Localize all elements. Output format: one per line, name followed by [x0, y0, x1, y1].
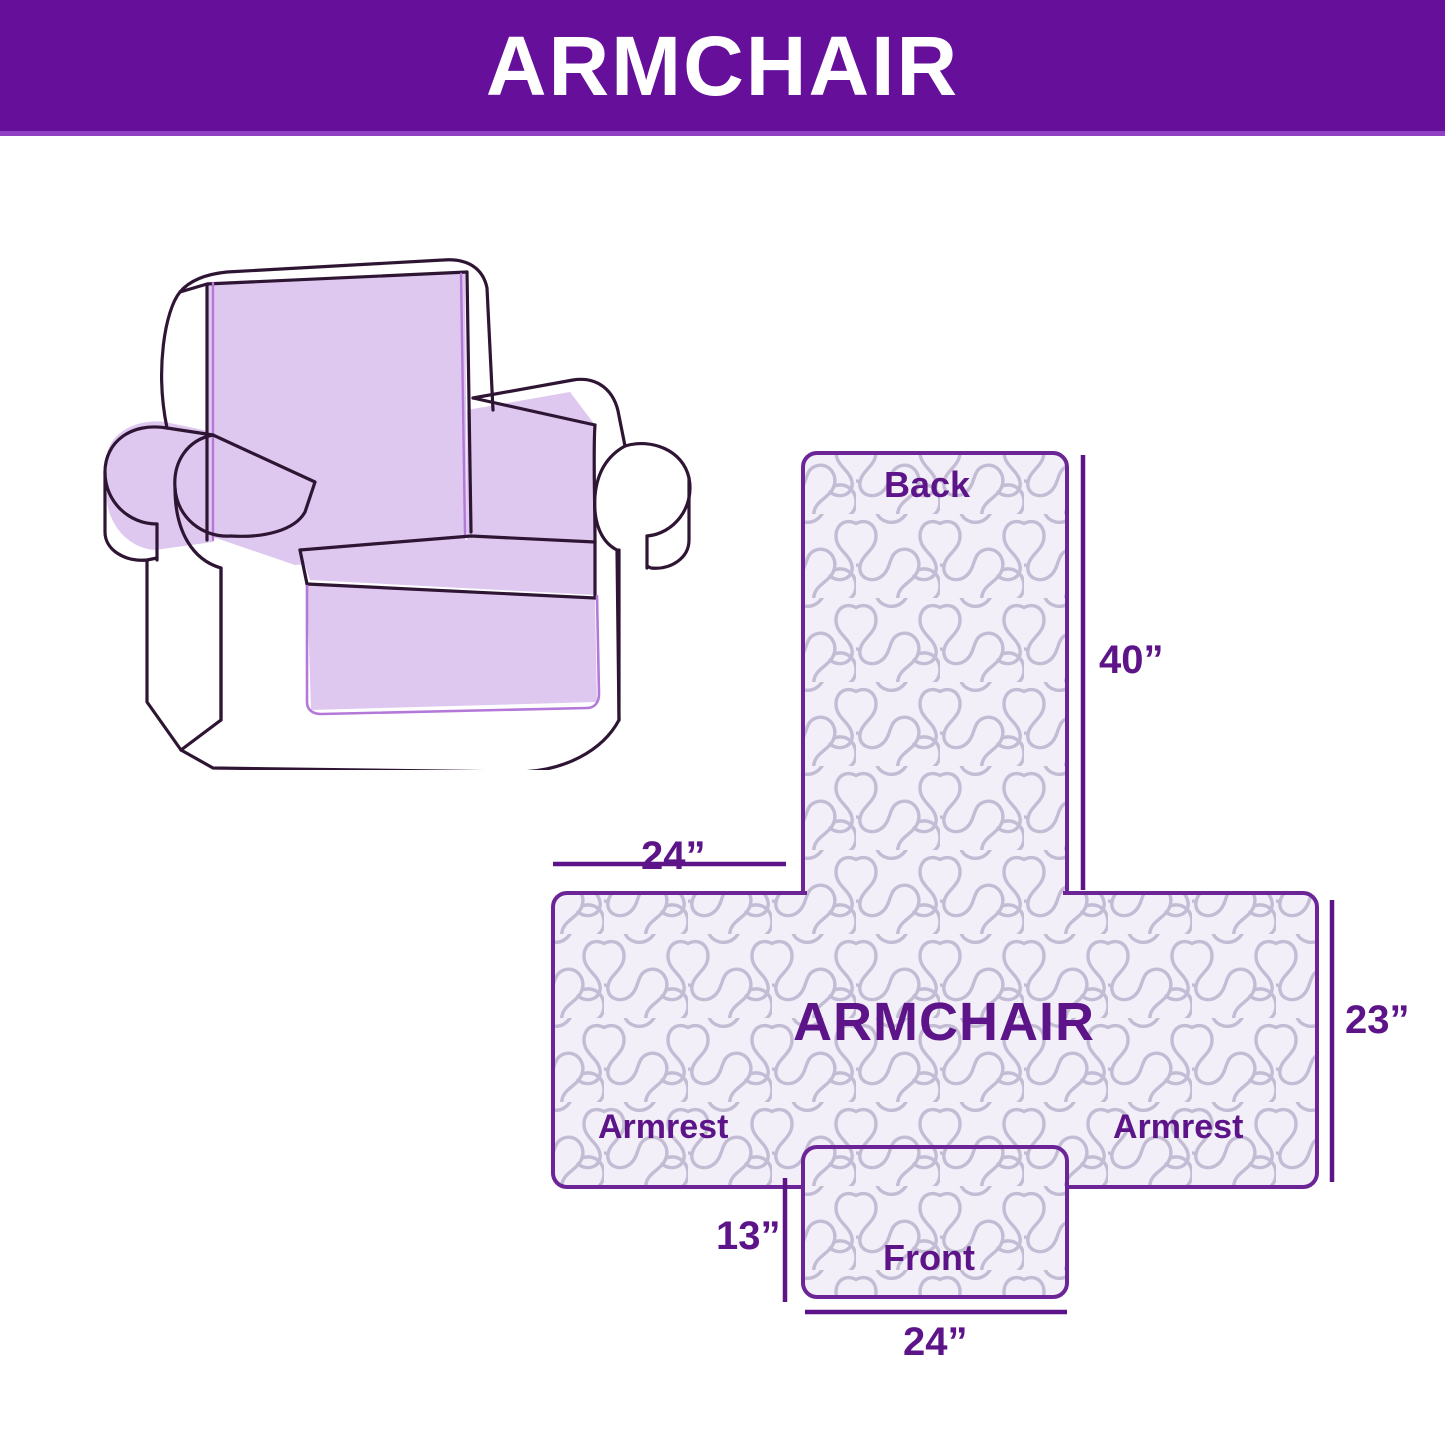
chair-backrest-cover: [207, 272, 467, 565]
dimension-label-back-height: 40”: [1099, 640, 1164, 680]
slipcover-pattern-diagram: [520, 430, 1410, 1350]
panel-label-armrest-right: Armrest: [1113, 1110, 1243, 1144]
panel-label-back: Back: [884, 467, 970, 503]
header-underline-divider: [0, 131, 1445, 136]
pattern-seam-cover-top: [807, 885, 1063, 903]
dimension-label-front-height: 13”: [716, 1216, 781, 1256]
dimension-label-center-height: 23”: [1345, 1000, 1410, 1040]
dimension-label-back-width: 24”: [641, 836, 706, 876]
dimension-label-front-width: 24”: [903, 1322, 968, 1362]
pattern-seam-cover-bottom: [807, 1177, 1063, 1195]
panel-label-center: ARMCHAIR: [793, 995, 1095, 1049]
chair-base-left: [181, 568, 221, 750]
pattern-panel-back: [803, 453, 1067, 933]
panel-label-armrest-left: Armrest: [598, 1110, 728, 1144]
panel-label-front: Front: [883, 1240, 975, 1276]
header-banner: ARMCHAIR: [0, 0, 1445, 131]
chair-base-left-inner: [147, 560, 181, 750]
page-title: ARMCHAIR: [486, 24, 959, 108]
